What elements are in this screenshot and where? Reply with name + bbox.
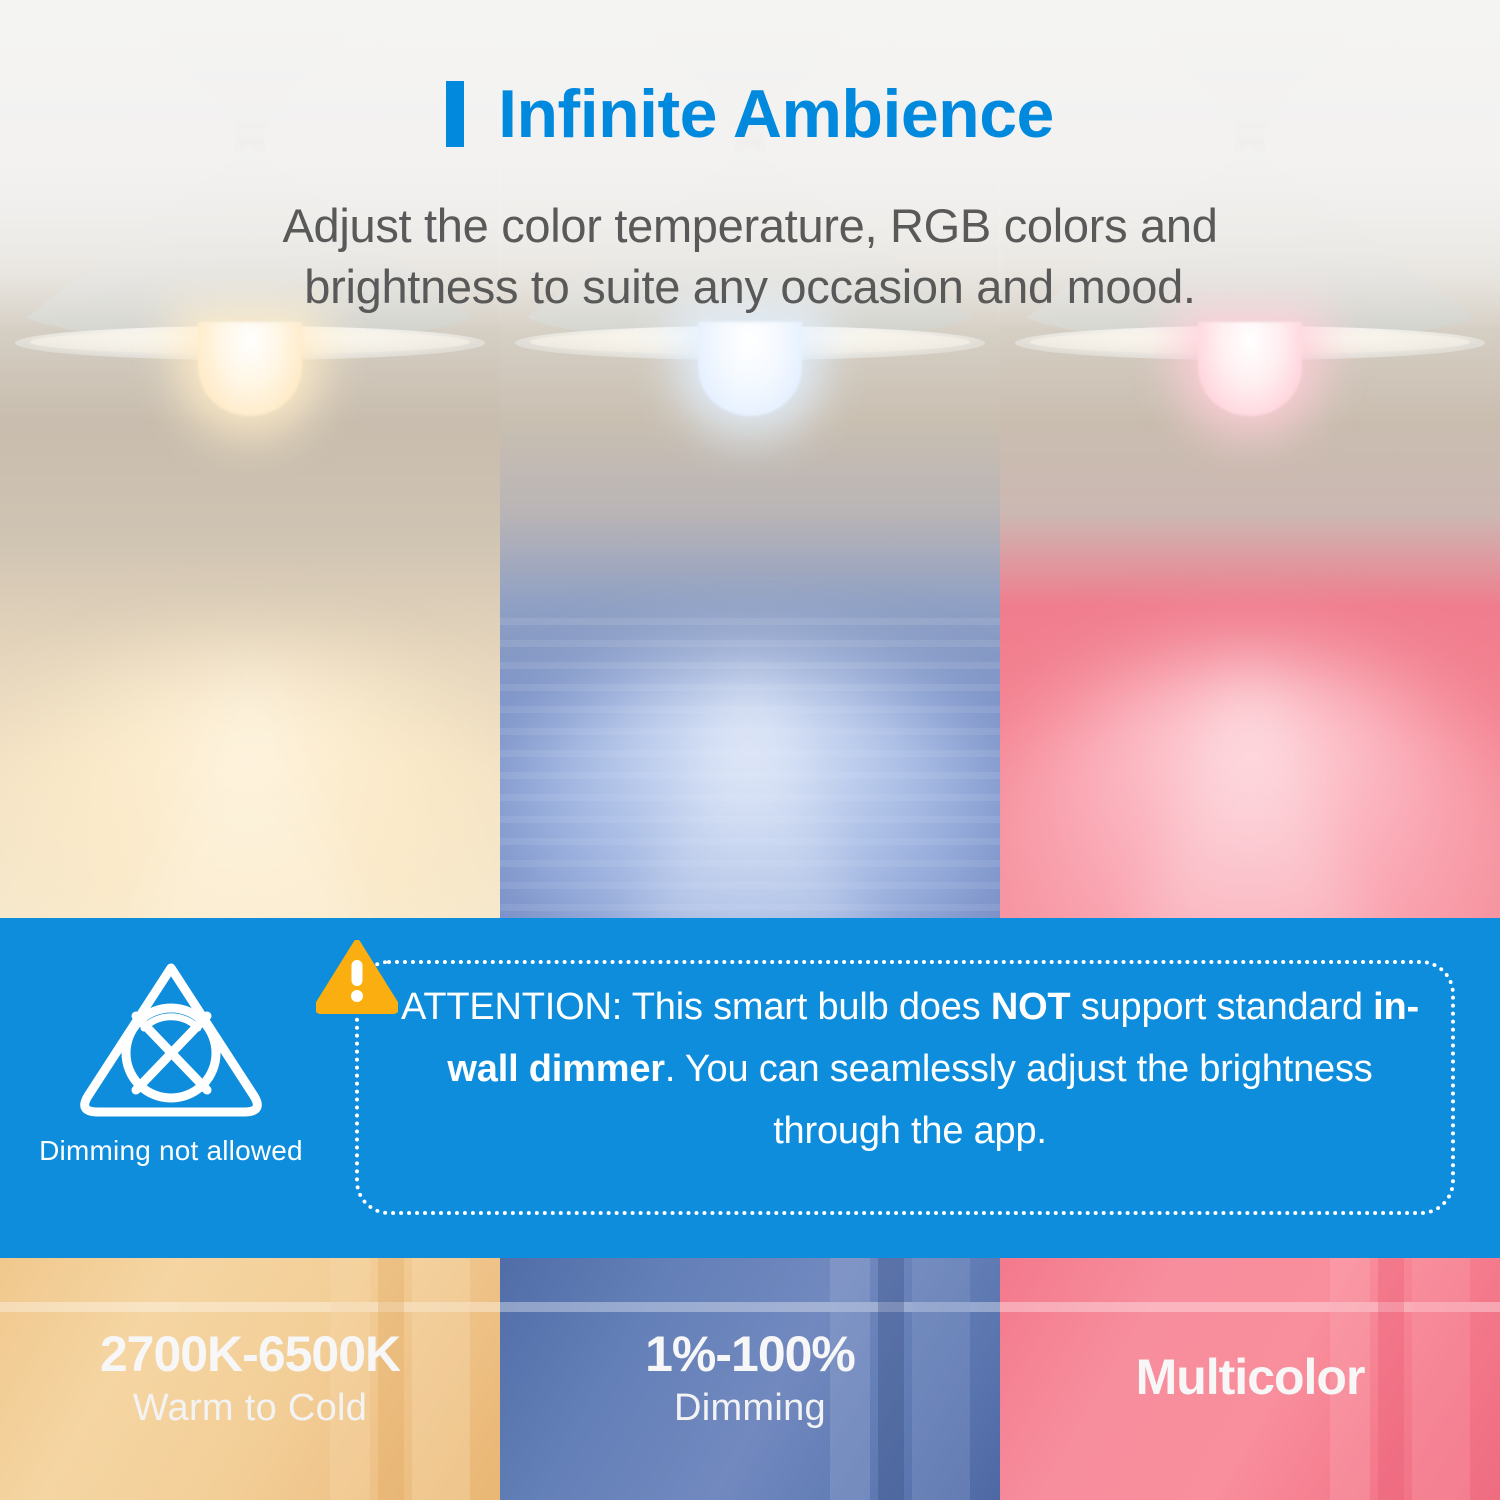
smart-bulb-color [1198, 322, 1302, 416]
feature-text: 1%-100% Dimming [500, 1258, 1000, 1500]
notice-middle: support standard [1070, 986, 1373, 1028]
notice-bold-not: NOT [991, 986, 1071, 1028]
smart-bulb-warm [198, 322, 302, 416]
feature-text: 2700K-6500K Warm to Cold [0, 1258, 500, 1500]
dimming-not-allowed-block: Dimming not allowed [36, 958, 306, 1167]
feature-text: Multicolor [1000, 1258, 1500, 1500]
dimming-icon-caption: Dimming not allowed [36, 1135, 306, 1167]
feature-color-temperature: 2700K-6500K Warm to Cold [0, 1258, 500, 1500]
header-section: Infinite Ambience Adjust the color tempe… [0, 0, 1500, 330]
page-subtitle-line-2: brightness to suite any occasion and moo… [0, 256, 1500, 317]
page-subtitle-line-1: Adjust the color temperature, RGB colors… [0, 195, 1500, 256]
notice-suffix: . You can seamlessly adjust the brightne… [665, 1048, 1373, 1152]
feature-title: Multicolor [1136, 1349, 1365, 1405]
feature-title: 2700K-6500K [100, 1326, 400, 1382]
notice-prefix: ATTENTION: This smart bulb does [401, 986, 991, 1028]
product-infographic: Infinite Ambience Adjust the color tempe… [0, 0, 1500, 1500]
attention-notice-text: ATTENTION: This smart bulb does NOT supp… [390, 976, 1430, 1162]
smart-bulb-cool [698, 322, 802, 416]
feature-multicolor: Multicolor [1000, 1258, 1500, 1500]
feature-subtitle: Dimming [674, 1386, 826, 1432]
feature-title: 1%-100% [645, 1326, 855, 1382]
feature-subtitle: Warm to Cold [133, 1386, 367, 1432]
attention-banner: Dimming not allowed ATTENTION: This smar… [0, 918, 1500, 1258]
feature-strip: 2700K-6500K Warm to Cold 1%-100% Dimming… [0, 1258, 1500, 1500]
hero-section: Infinite Ambience Adjust the color tempe… [0, 0, 1500, 918]
warning-triangle-icon [316, 940, 398, 1014]
title-accent-bar [446, 81, 464, 147]
page-title: Infinite Ambience [498, 80, 1054, 148]
no-dimming-icon [76, 958, 266, 1123]
page-title-row: Infinite Ambience [0, 80, 1500, 148]
feature-dimming: 1%-100% Dimming [500, 1258, 1000, 1500]
page-subtitle: Adjust the color temperature, RGB colors… [0, 195, 1500, 317]
